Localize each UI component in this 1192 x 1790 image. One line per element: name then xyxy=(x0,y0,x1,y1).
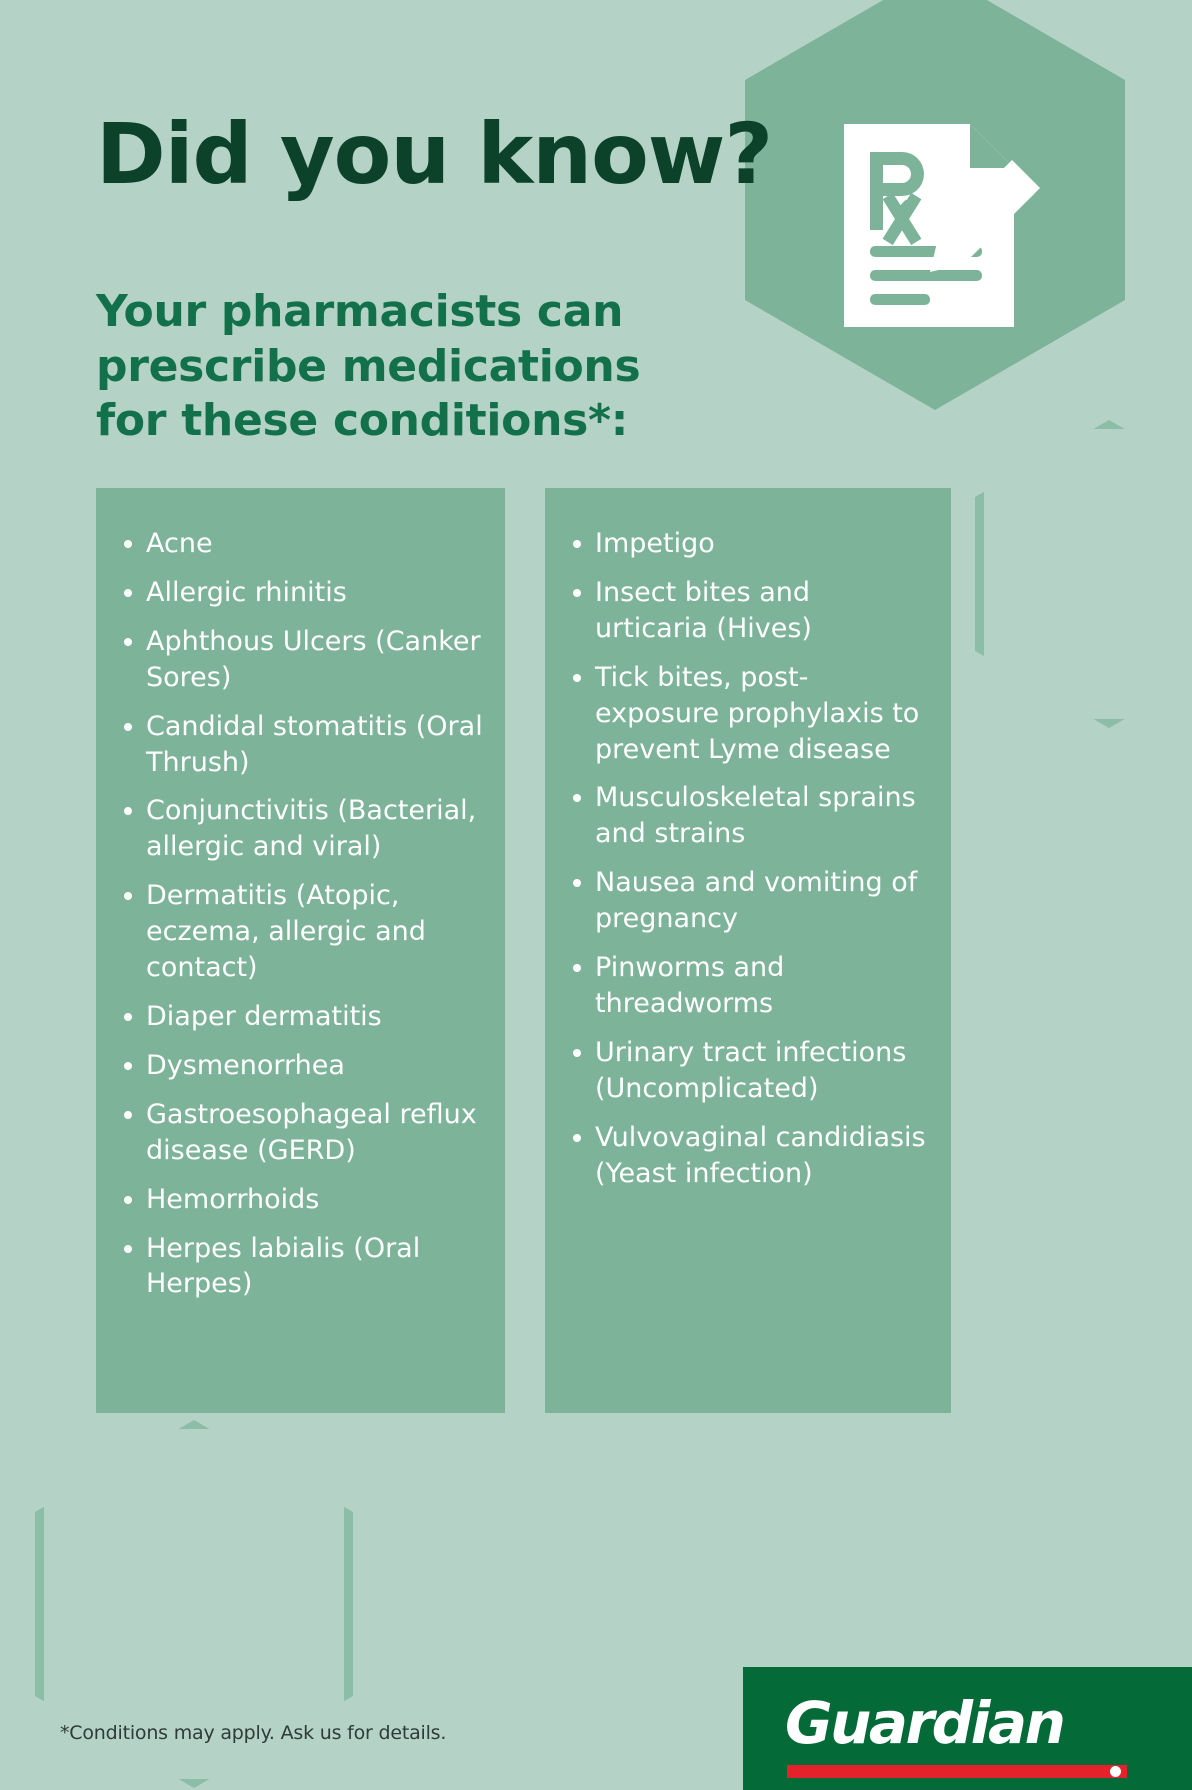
list-item: Allergic rhinitis xyxy=(120,575,485,611)
subtitle-line-2: prescribe medications xyxy=(96,340,696,395)
guardian-logo-text: Guardian xyxy=(785,1689,1063,1757)
subtitle-line-1: Your pharmacists can xyxy=(96,285,696,340)
page-subtitle: Your pharmacists can prescribe medicatio… xyxy=(96,285,696,449)
list-item: Candidal stomatitis (Oral Thrush) xyxy=(120,709,485,781)
list-item: Musculoskeletal sprains and strains xyxy=(569,780,931,852)
list-item: Gastroesophageal reflux disease (GERD) xyxy=(120,1097,485,1169)
list-item: Insect bites and urticaria (Hives) xyxy=(569,575,931,647)
list-item: Acne xyxy=(120,526,485,562)
conditions-list-left: Acne Allergic rhinitis Aphthous Ulcers (… xyxy=(96,488,505,1302)
list-item: Diaper dermatitis xyxy=(120,999,485,1035)
list-item: Pinworms and threadworms xyxy=(569,950,931,1022)
list-item: Impetigo xyxy=(569,526,931,562)
conditions-list-right: Impetigo Insect bites and urticaria (Hiv… xyxy=(545,488,951,1192)
list-item: Urinary tract infections (Uncomplicated) xyxy=(569,1035,931,1107)
list-item: Nausea and vomiting of pregnancy xyxy=(569,865,931,937)
list-item: Herpes labialis (Oral Herpes) xyxy=(120,1231,485,1303)
list-item: Conjunctivitis (Bacterial, allergic and … xyxy=(120,793,485,865)
rx-prescription-icon xyxy=(838,118,1043,333)
list-item: Hemorrhoids xyxy=(120,1182,485,1218)
list-item: Dermatitis (Atopic, eczema, allergic and… xyxy=(120,878,485,986)
guardian-logo-underline xyxy=(787,1765,1127,1778)
page-title: Did you know? xyxy=(96,112,772,196)
conditions-panel-right: Impetigo Insect bites and urticaria (Hiv… xyxy=(545,488,951,1413)
list-item: Tick bites, post-exposure prophylaxis to… xyxy=(569,660,931,768)
footnote-disclaimer: *Conditions may apply. Ask us for detail… xyxy=(60,1722,446,1744)
subtitle-line-3: for these conditions*: xyxy=(96,394,696,449)
list-item: Vulvovaginal candidiasis (Yeast infectio… xyxy=(569,1120,931,1192)
list-item: Aphthous Ulcers (Canker Sores) xyxy=(120,624,485,696)
poster-root: Did you know? Your pharmacists can presc… xyxy=(0,0,1192,1790)
guardian-logo-dot xyxy=(1110,1766,1121,1777)
conditions-panel-left: Acne Allergic rhinitis Aphthous Ulcers (… xyxy=(96,488,505,1413)
hexagon-decoration-mid-right xyxy=(975,420,1192,728)
guardian-logo: Guardian xyxy=(743,1667,1192,1790)
list-item: Dysmenorrhea xyxy=(120,1048,485,1084)
